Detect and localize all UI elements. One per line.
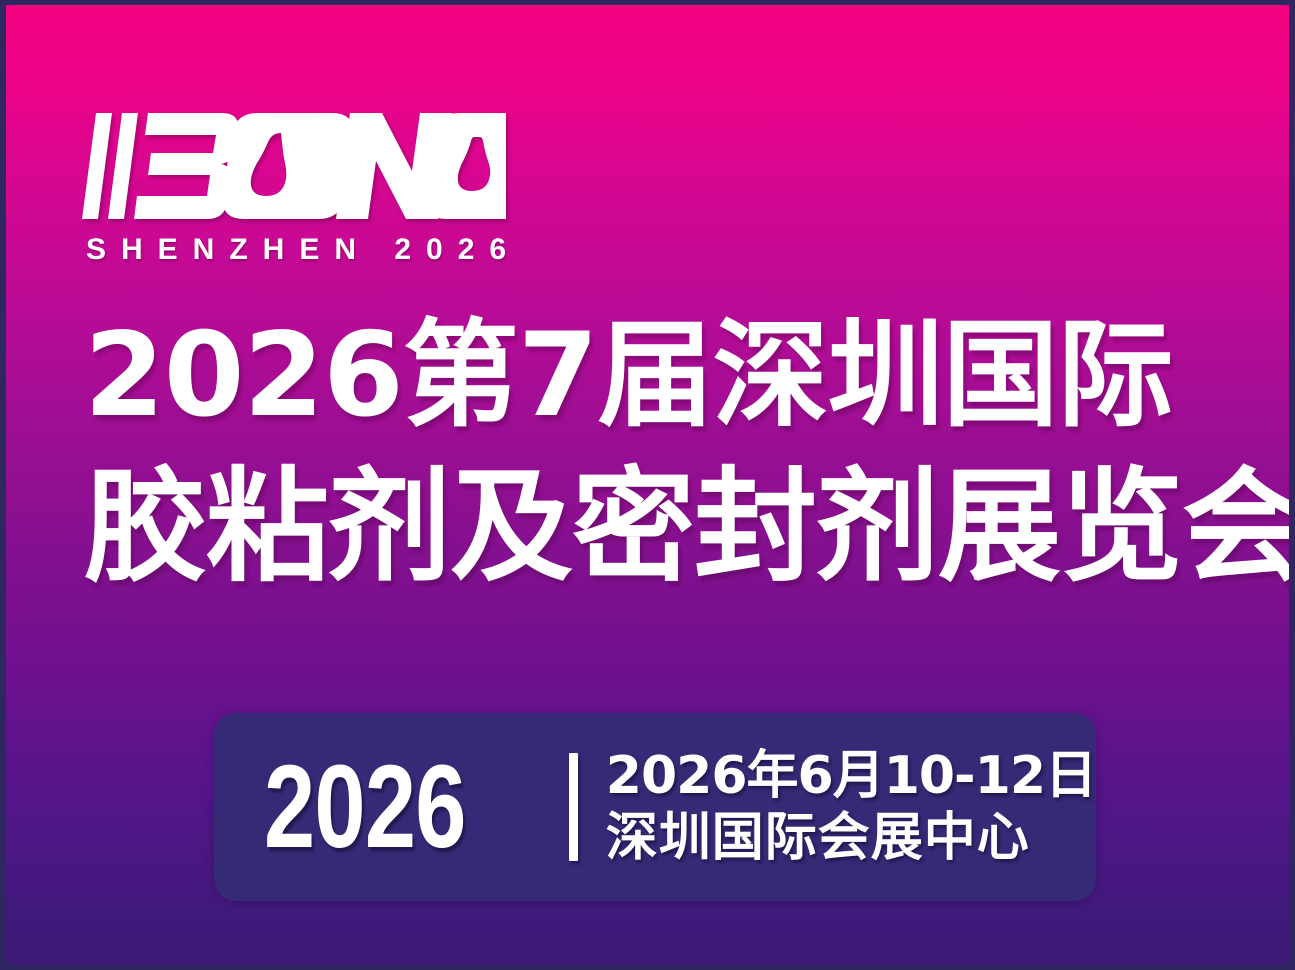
event-date: 2026年6月10-12日 xyxy=(606,748,1096,804)
bond-b-bar2 xyxy=(108,113,138,219)
bond-b-three xyxy=(134,113,238,219)
event-poster: SHENZHEN 2026 2026第7届深圳国际 胶粘剂及密封剂展览会 202… xyxy=(0,0,1295,970)
bond-d-letter xyxy=(425,113,506,219)
logo-subtitle: SHENZHEN 2026 xyxy=(86,233,512,267)
event-year: 2026 xyxy=(264,748,536,866)
event-venue: 深圳国际会展中心 xyxy=(606,810,1096,866)
bond-wordmark xyxy=(82,113,506,219)
headline-line-1: 2026第7届深圳国际 xyxy=(84,305,1224,447)
event-info-panel: 2026 2026年6月10-12日 深圳国际会展中心 xyxy=(214,713,1096,901)
event-details: 2026年6月10-12日 深圳国际会展中心 xyxy=(606,748,1096,866)
headline-line-2: 胶粘剂及密封剂展览会 xyxy=(84,453,1224,603)
bond-o-letter xyxy=(223,113,354,219)
bond-b-bar1 xyxy=(82,113,112,219)
vertical-divider xyxy=(569,753,578,861)
brand-logo-block: SHENZHEN 2026 xyxy=(82,113,512,267)
poster-headline: 2026第7届深圳国际 胶粘剂及密封剂展览会 xyxy=(84,305,1224,603)
